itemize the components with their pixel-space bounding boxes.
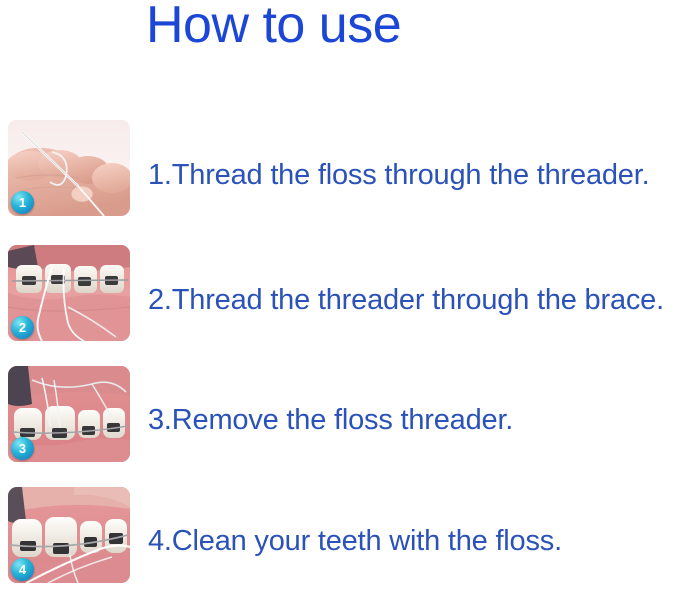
list-item: 4 4.Clean your teeth with the floss. [0,473,679,593]
list-item: 3 3.Remove the floss threader. [0,353,679,473]
list-item: 2 2.Thread the threader through the brac… [0,233,679,353]
page-title: How to use [146,0,401,56]
step-badge: 4 [11,558,34,581]
step-badge: 3 [11,437,34,460]
step-badge: 1 [11,191,34,214]
step-caption: 4.Clean your teeth with the floss. [148,524,562,558]
step-badge: 2 [11,316,34,339]
how-to-use-steps-list: 1 1.Thread the floss through the threade… [0,113,679,593]
step-caption: 1.Thread the floss through the threader. [148,158,649,192]
step-caption: 2.Thread the threader through the brace. [148,283,664,317]
list-item: 1 1.Thread the floss through the threade… [0,113,679,233]
step-caption: 3.Remove the floss threader. [148,403,513,437]
